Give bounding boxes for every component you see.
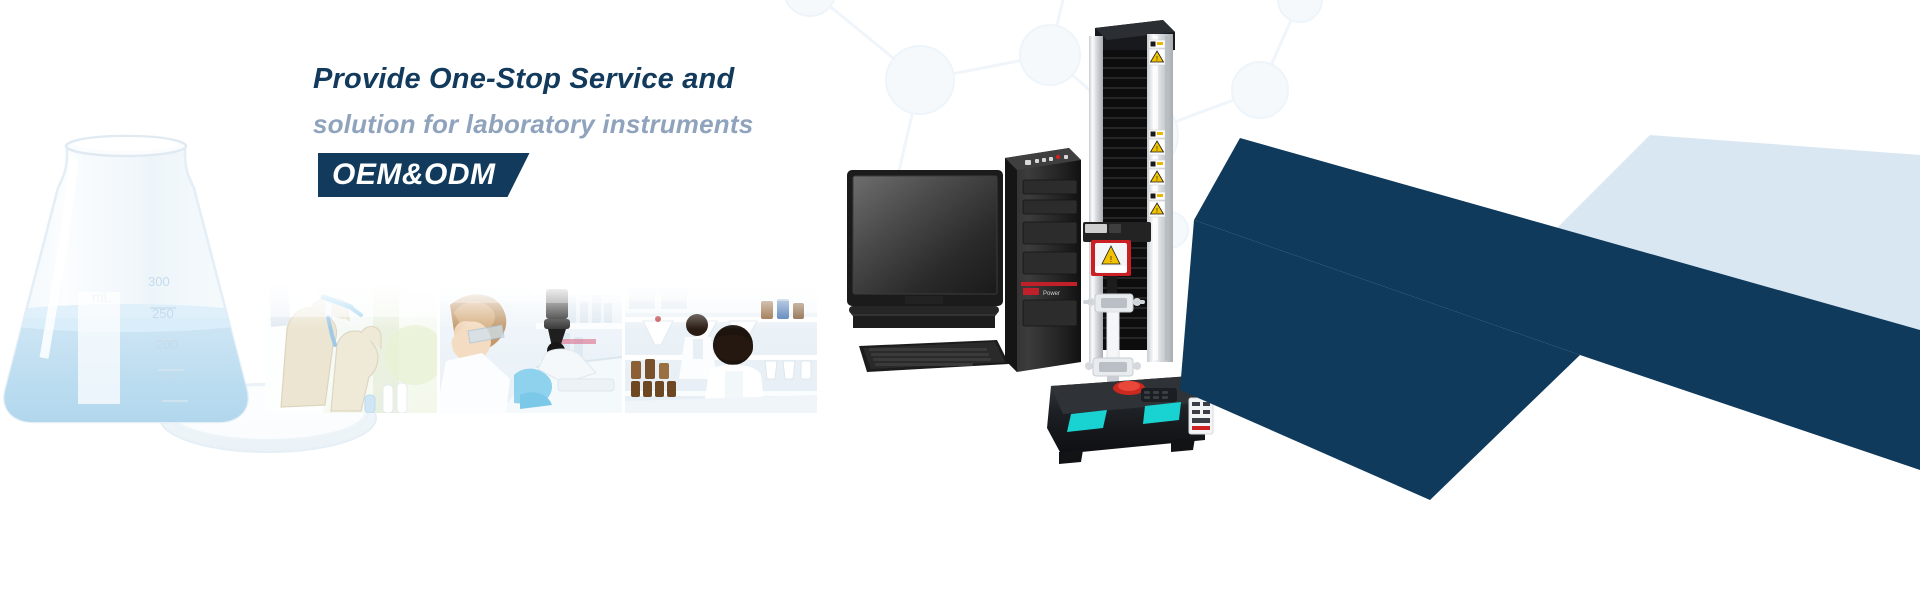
computer-tower: Power [1005,148,1081,372]
svg-text:mL: mL [92,289,112,305]
computer-keyboard [859,340,1009,372]
flask-body: 300 250 200 150 mL [0,136,300,456]
svg-text:!: ! [1156,176,1158,183]
hero-banner: 300 250 200 150 mL Provide One-Stop Serv… [0,0,1920,597]
crosshead: ! [1083,222,1151,276]
svg-text:!: ! [1156,146,1158,153]
photo-laboratory-workers [625,283,817,413]
universal-tensile-testing-machine: ! ! ! [1047,20,1213,464]
arrow-dark-tail [1180,220,1580,500]
headline-line-2: solution for laboratory instruments [313,101,1013,147]
photo-strip [265,283,817,413]
svg-text:!: ! [1156,208,1158,215]
headline-block: Provide One-Stop Service and solution fo… [313,57,1013,197]
tower-brand-label: Power [1043,291,1060,297]
oem-odm-badge: OEM&ODM [318,153,530,197]
arrow-dark-chevron [1194,138,1920,470]
arrow-light-triangle [1465,135,1920,330]
svg-text:250: 250 [152,306,174,321]
svg-text:!: ! [1110,255,1112,264]
computer-mouse [1011,347,1039,368]
svg-text:200: 200 [156,337,178,352]
photo-top-fade [440,283,622,329]
lower-grip [1085,358,1141,390]
badge-row: OEM&ODM [313,153,1013,197]
decorative-arrows [1180,100,1920,500]
svg-text:300: 300 [148,274,170,289]
svg-text:150: 150 [160,368,182,383]
flask-graduations [150,308,188,401]
warning-label-group: ! ! ! [1149,40,1165,217]
photo-pipetting-gloved-hands [265,283,437,413]
machine-base [1047,376,1213,464]
photo-top-fade [625,283,817,329]
photo-top-fade [265,283,437,329]
warning-glyph: ! [1156,56,1158,63]
upper-grip [1083,276,1145,312]
photo-microscope-researcher [440,283,622,413]
headline-line-1: Provide One-Stop Service and [313,57,1013,101]
